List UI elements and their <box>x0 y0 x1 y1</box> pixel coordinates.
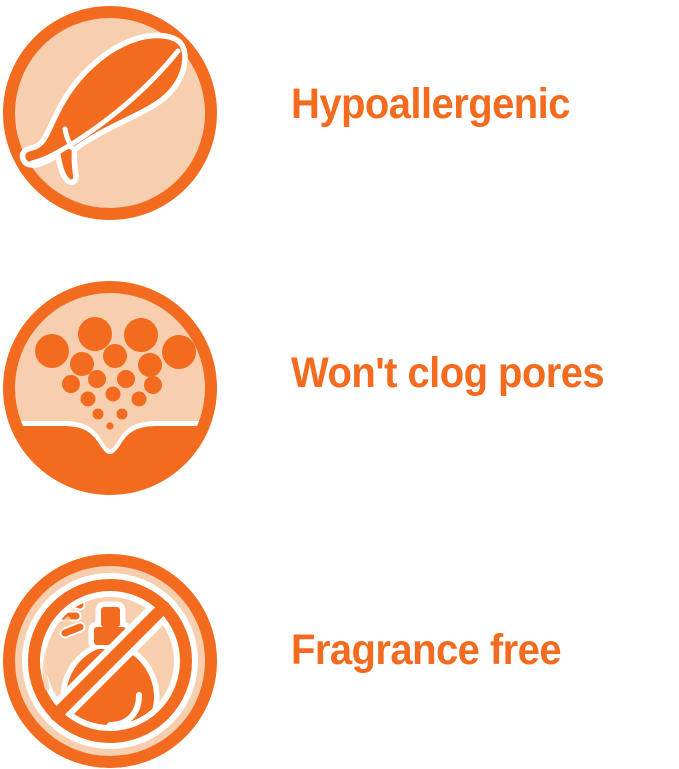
pore-funnel-icon <box>2 280 218 496</box>
feature-label-fragrance-free: Fragrance free <box>291 629 652 672</box>
feature-label-hypoallergenic: Hypoallergenic <box>291 83 652 126</box>
feather-icon <box>2 5 218 221</box>
feature-board: Hypoallergenic <box>0 0 679 769</box>
feature-row-wont-clog-pores: Won't clog pores <box>0 278 679 492</box>
no-fragrance-icon <box>2 553 218 769</box>
feature-row-hypoallergenic: Hypoallergenic <box>0 3 679 223</box>
feature-label-wont-clog-pores: Won't clog pores <box>291 352 652 395</box>
feature-row-fragrance-free: Fragrance free <box>0 551 679 769</box>
